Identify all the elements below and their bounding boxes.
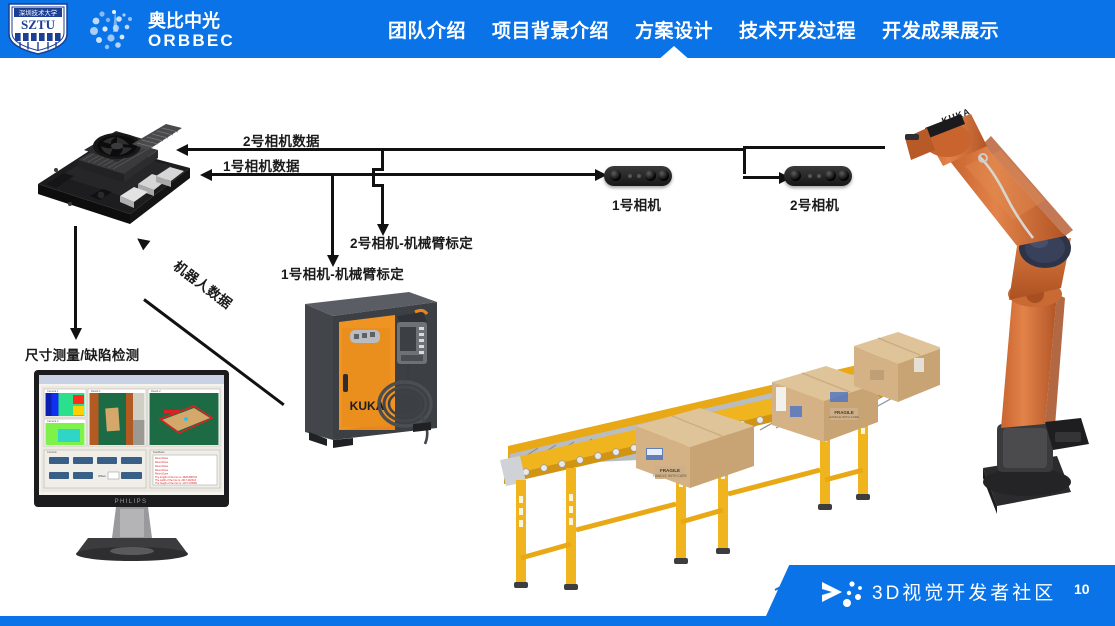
edge-label-inspection: 尺寸测量/缺陷检测	[25, 344, 139, 364]
svg-text:Result 1: Result 1	[91, 389, 101, 393]
monitor-brand: PHILIPS	[115, 499, 148, 505]
sztu-cn-name: 深圳技术大学	[19, 8, 58, 17]
nav-tab-label: 团队介绍	[388, 21, 466, 42]
camera-ir-dot	[628, 174, 632, 178]
svg-text:Offset:: Offset:	[98, 474, 106, 478]
nav-tab-label: 方案设计	[635, 21, 713, 42]
edge-robot-data-arrowhead	[134, 234, 151, 251]
camera-lens	[658, 170, 669, 181]
camera-ir-dot	[637, 174, 641, 178]
sztu-abbr: SZTU	[21, 17, 56, 32]
edge-label-robot-data: 机器人数据	[170, 255, 237, 312]
nav-tab-results[interactable]: 开发成果展示	[869, 16, 1012, 43]
edge-robot-to-cam2-top	[743, 146, 885, 149]
camera-lens	[790, 170, 801, 181]
roller-conveyor: FRAGILE HANDLE WITH CARE FRAGILE HANDLE …	[490, 308, 940, 608]
community-name: 3D视觉开发者社区	[872, 578, 1056, 605]
svg-text:FRAGILE: FRAGILE	[660, 468, 680, 473]
sztu-logo: 深圳技术大学 SZTU	[6, 2, 70, 56]
inspection-monitor: PHILIPS Camera 1 Camera 2	[28, 368, 235, 564]
edge-cam2-data-arrowhead	[176, 144, 188, 156]
camera-1-label: 1号相机	[612, 194, 661, 214]
app-header: 深圳技术大学 SZTU	[0, 0, 1115, 58]
camera-ir-dot	[817, 174, 821, 178]
edge-label-cam2-calib: 2号相机-机械臂标定	[350, 232, 473, 252]
community-logo-icon	[818, 576, 874, 612]
camera-lens	[825, 170, 836, 181]
edge-inspection-arrowhead	[70, 328, 82, 340]
svg-text:Reset Done: Reset Done	[155, 461, 169, 464]
bottom-accent-bar	[0, 616, 1115, 626]
nav-tab-team[interactable]: 团队介绍	[375, 16, 479, 43]
edge-inspection-line	[74, 226, 77, 331]
svg-text:Camera 2: Camera 2	[47, 419, 59, 423]
edge-robot-to-cam2-drop	[743, 146, 746, 174]
camera-lens	[838, 170, 849, 181]
nav-tab-label: 项目背景介绍	[492, 21, 609, 42]
kuka-robot-arm: KUKA	[905, 88, 1115, 518]
svg-text:Reset Done: Reset Done	[155, 465, 169, 468]
nav-tab-development[interactable]: 技术开发过程	[726, 16, 869, 43]
camera-2-label: 2号相机	[790, 194, 839, 214]
edge-cam2-calib-seg-top	[381, 150, 384, 170]
slide-canvas: 2号相机数据 1号相机数据 1号相机-机械臂标定 2号相机-机械臂标定 尺寸测量…	[0, 58, 1115, 616]
svg-text:Result 2: Result 2	[151, 389, 161, 393]
nav-tab-label: 开发成果展示	[882, 21, 999, 42]
camera-lens	[610, 170, 621, 181]
svg-text:Controls: Controls	[47, 450, 57, 454]
camera-ir-dot	[808, 174, 812, 178]
svg-text:HANDLE WITH CARE: HANDLE WITH CARE	[653, 474, 687, 478]
edge-cam1-calib-line	[331, 173, 334, 258]
orbbec-logo: 奥比中光 ORBBEC	[88, 6, 238, 52]
orbbec-cn-name: 奥比中光	[148, 10, 220, 31]
orbbec-en-name: ORBBEC	[148, 31, 235, 50]
nav-tab-background[interactable]: 项目背景介绍	[479, 16, 622, 43]
edge-cam1-data-arrowhead	[200, 169, 212, 181]
edge-robot-to-cam2-run	[743, 176, 781, 179]
page-number: 10	[1074, 581, 1090, 597]
nav-tab-label: 技术开发过程	[739, 21, 856, 42]
svg-text:Camera 1: Camera 1	[47, 389, 59, 393]
edge-label-cam1-calib: 1号相机-机械臂标定	[281, 263, 404, 283]
depth-camera-1	[604, 166, 672, 186]
edge-cam2-calib-seg-bot	[381, 184, 384, 226]
main-nav: 团队介绍 项目背景介绍 方案设计 技术开发过程 开发成果展示	[375, 0, 1115, 58]
kuka-controller-cabinet: KUKA	[297, 282, 445, 454]
depth-camera-2	[784, 166, 852, 186]
svg-text:HANDLE WITH CARE: HANDLE WITH CARE	[829, 415, 859, 419]
jetson-compute-board	[34, 110, 194, 235]
edge-label-cam2-data: 2号相机数据	[243, 130, 320, 150]
svg-text:The height of the box is: 1173: The height of the box is: 1173.178699	[155, 482, 197, 485]
edge-label-cam1-data: 1号相机数据	[223, 155, 300, 175]
nav-tab-solution-design[interactable]: 方案设计	[622, 16, 726, 43]
camera-lens	[645, 170, 656, 181]
svg-text:Reset Done: Reset Done	[155, 457, 169, 460]
svg-text:Feedback: Feedback	[153, 450, 165, 454]
